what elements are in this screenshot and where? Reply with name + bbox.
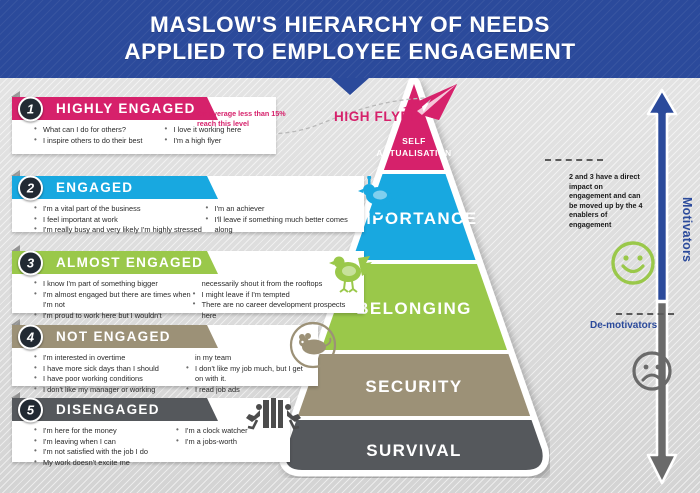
title-line-2: APPLIED TO EMPLOYEE ENGAGEMENT xyxy=(0,38,700,65)
list-item: I read job ads xyxy=(186,385,312,396)
tier-bar-3: 3 ALMOST ENGAGED xyxy=(12,251,207,274)
list-item: I feel important at work xyxy=(34,215,206,226)
tier-bar-2: 2 ENGAGED xyxy=(12,176,207,199)
tier-bar-1: 1 HIGHLY ENGAGED xyxy=(12,97,207,120)
list-item: I'll leave if something much better come… xyxy=(206,215,358,236)
tier-label-5: DISENGAGED xyxy=(56,402,160,417)
list-item: My work doesn't excite me xyxy=(34,458,176,469)
list-item: What can I do for others? xyxy=(34,125,164,136)
tier-4-col-left: I'm interested in overtime I have more s… xyxy=(34,353,186,395)
tier-3-col-left: I know I'm part of something bigger I'm … xyxy=(34,279,193,321)
header-notch xyxy=(331,78,369,95)
list-item: I'm an achiever xyxy=(206,204,358,215)
list-item: I'm not satisfied with the job I do xyxy=(34,447,176,458)
tier-number-badge-5: 5 xyxy=(18,397,43,422)
list-item: I'm proud to work here but I wouldn't xyxy=(34,311,193,322)
list-item: I'm a high flyer xyxy=(164,136,270,147)
pyramid-label-belonging: BELONGING xyxy=(356,299,472,318)
tier-label-2: ENGAGED xyxy=(56,180,133,195)
tier-label-1: HIGHLY ENGAGED xyxy=(56,101,196,116)
page-title: MASLOW'S HIERARCHY OF NEEDS APPLIED TO E… xyxy=(0,0,700,65)
callout-15-percent: On average less than 15% reach this leve… xyxy=(197,109,289,128)
tier-2-col-right: I'm an achiever I'll leave if something … xyxy=(206,204,358,236)
pyramid-label-self-actualisation-line2: ACTUALISATION xyxy=(376,148,451,158)
list-item: I'm here for the money xyxy=(34,426,176,437)
tier-number-badge-2: 2 xyxy=(18,175,43,200)
header-banner: MASLOW'S HIERARCHY OF NEEDS APPLIED TO E… xyxy=(0,0,700,78)
mouse-circle-icon xyxy=(288,320,338,375)
tier-2-col-left: I'm a vital part of the business I feel … xyxy=(34,204,206,236)
proud-bird-icon xyxy=(355,176,403,225)
tier-row-not-engaged[interactable]: 4 NOT ENGAGED I'm interested in overtime… xyxy=(12,325,318,386)
frowning-face-icon xyxy=(631,350,673,397)
list-item: I'm almost engaged but there are times w… xyxy=(34,290,193,311)
list-item: I inspire others to do their best xyxy=(34,136,164,147)
tier-body-2: I'm a vital part of the business I feel … xyxy=(12,199,364,242)
list-item: I have poor working conditions xyxy=(34,374,186,385)
turkey-bird-icon xyxy=(326,250,374,299)
tier-label-4: NOT ENGAGED xyxy=(56,329,171,344)
list-item: I'm interested in overtime xyxy=(34,353,186,364)
list-item: I'm a vital part of the business xyxy=(34,204,206,215)
list-item: I know I'm part of something bigger xyxy=(34,279,193,290)
title-line-1: MASLOW'S HIERARCHY OF NEEDS xyxy=(0,11,700,38)
tier-1-col-left: What can I do for others? I inspire othe… xyxy=(34,125,164,146)
pyramid-label-survival: SURVIVAL xyxy=(366,441,462,460)
list-item: I'm leaving when I can xyxy=(34,437,176,448)
tier-body-4: I'm interested in overtime I have more s… xyxy=(12,348,318,401)
list-item: I have more sick days than I should xyxy=(34,364,186,375)
note-divider-bottom xyxy=(616,313,674,315)
paper-plane-icon xyxy=(397,82,459,129)
motivators-label: Motivators xyxy=(680,197,694,262)
tier-number-badge-4: 4 xyxy=(18,324,43,349)
tier-5-col-left: I'm here for the money I'm leaving when … xyxy=(34,426,176,468)
demotivators-label: De-motivators xyxy=(590,320,657,331)
list-item: There are no career development prospect… xyxy=(193,300,358,321)
list-item: I don't like my manager or working xyxy=(34,385,186,396)
smiley-face-icon xyxy=(610,240,656,291)
note-divider-top xyxy=(545,159,603,161)
tier-row-almost-engaged[interactable]: 3 ALMOST ENGAGED I know I'm part of some… xyxy=(12,251,364,313)
tier-bar-4: 4 NOT ENGAGED xyxy=(12,325,207,348)
tier-label-3: ALMOST ENGAGED xyxy=(56,255,203,270)
tier-number-badge-1: 1 xyxy=(18,96,43,121)
pyramid-label-security: SECURITY xyxy=(365,377,462,396)
list-item: I'm really busy and very likely I'm high… xyxy=(34,225,206,236)
infographic-canvas: MASLOW'S HIERARCHY OF NEEDS APPLIED TO E… xyxy=(0,0,700,493)
tier-bar-5: 5 DISENGAGED xyxy=(12,398,207,421)
tier-row-engaged[interactable]: 2 ENGAGED I'm a vital part of the busine… xyxy=(12,176,364,232)
side-note-text: 2 and 3 have a direct impact on engageme… xyxy=(569,172,645,230)
tier-number-badge-3: 3 xyxy=(18,250,43,275)
people-pushing-bars-icon xyxy=(243,396,305,445)
